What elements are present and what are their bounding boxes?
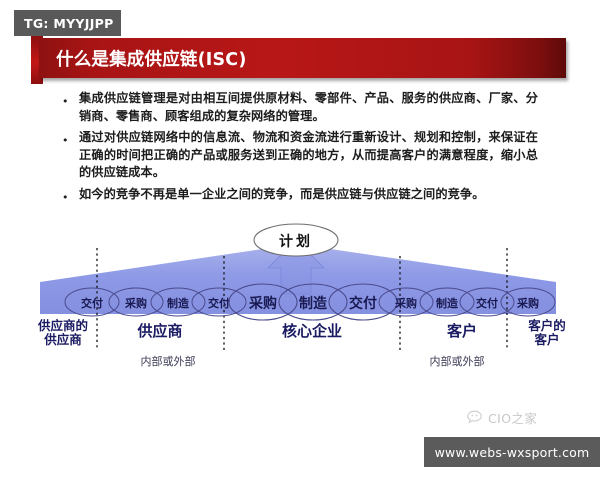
list-item: • 集成供应链管理是对由相互间提供原材料、零部件、产品、服务的供应商、厂家、分销…	[62, 90, 538, 125]
bullet-text: 如今的竞争不再是单一企业之间的竞争，而是供应链与供应链之间的竞争。	[79, 186, 538, 204]
segment-label-customers-customer-line2: 客户	[533, 332, 559, 347]
segment-label-suppliers-supplier: 供应商的	[37, 318, 88, 333]
process-node-label: 交付	[208, 296, 230, 310]
slide-title-bar: 什么是集成供应链(ISC)	[31, 36, 566, 78]
plan-node-label: 计划	[279, 233, 313, 250]
bullet-text: 通过对供应链网络中的信息流、物流和资金流进行重新设计、规划和控制，来保证在正确的…	[79, 129, 538, 182]
segment-label-customers-customer: 客户的	[527, 318, 566, 333]
cio-logo-icon	[466, 409, 484, 425]
tg-tag-overlay: TG: MYYJJPP	[14, 10, 121, 36]
segment-label-customer: 客户	[446, 322, 477, 340]
page-title: 什么是集成供应链(ISC)	[39, 46, 247, 71]
segment-label-suppliers-supplier-line2: 供应商	[43, 332, 82, 347]
process-node-label: 采购	[248, 295, 277, 312]
segment-sublabel-supplier: 内部或外部	[141, 354, 196, 368]
list-item: • 如今的竞争不再是单一企业之间的竞争，而是供应链与供应链之间的竞争。	[62, 186, 538, 204]
process-node-label: 采购	[394, 296, 417, 310]
process-node-label: 采购	[124, 296, 147, 310]
bullet-text: 集成供应链管理是对由相互间提供原材料、零部件、产品、服务的供应商、厂家、分销商、…	[79, 90, 538, 125]
segment-label-supplier: 供应商	[136, 322, 182, 340]
process-node-label: 交付	[81, 296, 103, 310]
segment-sublabels: 内部或外部 内部或外部	[141, 354, 485, 368]
process-node-label: 制造	[167, 296, 190, 310]
segment-labels: 供应商的 供应商 供应商 核心企业 客户 客户的 客户	[37, 318, 566, 347]
process-node-label: 采购	[516, 296, 539, 310]
process-node-label: 制造	[436, 296, 459, 310]
segment-label-core-enterprise: 核心企业	[282, 322, 342, 340]
bullet-marker-icon: •	[62, 186, 79, 203]
cio-watermark-label: CIO之家	[488, 408, 537, 427]
plan-node: 计划	[254, 224, 338, 256]
supply-chain-diagram: 计划 交付 采购 制造 交付	[0, 222, 600, 382]
process-node-label: 制造	[299, 295, 327, 312]
bullet-list: • 集成供应链管理是对由相互间提供原材料、零部件、产品、服务的供应商、厂家、分销…	[62, 90, 538, 207]
list-item: • 通过对供应链网络中的信息流、物流和资金流进行重新设计、规划和控制，来保证在正…	[62, 129, 538, 182]
process-node-label: 交付	[349, 295, 377, 312]
cio-watermark: CIO之家	[466, 406, 570, 428]
title-bar-background: 什么是集成供应链(ISC)	[39, 38, 566, 78]
slide-canvas: 什么是集成供应链(ISC) • 集成供应链管理是对由相互间提供原材料、零部件、产…	[0, 0, 600, 480]
process-node-label: 交付	[476, 296, 498, 310]
bullet-marker-icon: •	[62, 129, 79, 146]
site-url-bar: www.webs-wxsport.com	[424, 437, 600, 467]
bullet-marker-icon: •	[62, 90, 79, 107]
segment-sublabel-customer: 内部或外部	[430, 354, 485, 368]
